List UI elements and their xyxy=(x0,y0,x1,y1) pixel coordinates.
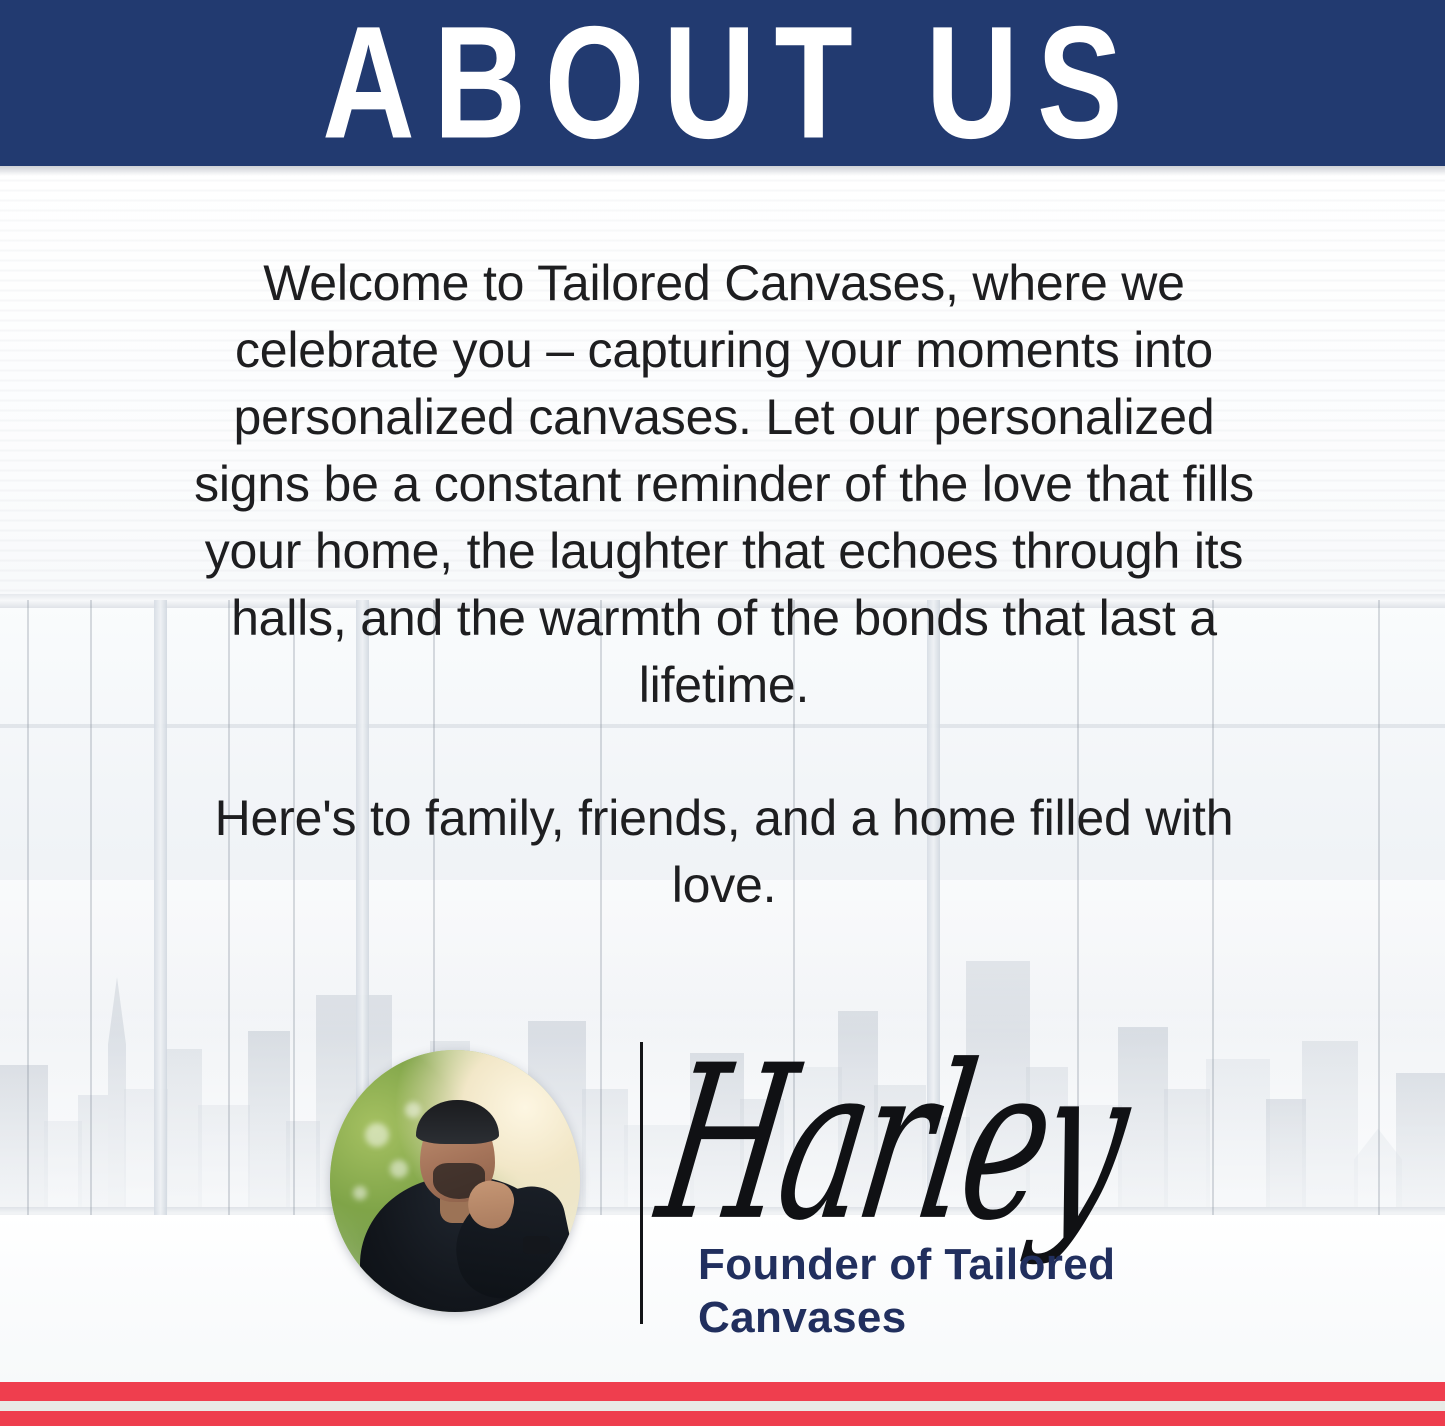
founder-signature-block: Harley Founder of Tailored Canvases xyxy=(330,1042,1130,1332)
founder-role-label: Founder of Tailored Canvases xyxy=(698,1238,1118,1344)
paragraph-intro: Welcome to Tailored Canvases, where we c… xyxy=(174,250,1274,719)
window-mullion xyxy=(154,600,167,1215)
footer-accent-bar-top xyxy=(0,1382,1445,1401)
about-us-graphic: ABOUT US Welcome to Tailored Canvases, w… xyxy=(0,0,1445,1426)
page-title: ABOUT US xyxy=(304,3,1142,163)
avatar xyxy=(330,1050,580,1312)
about-us-copy: Welcome to Tailored Canvases, where we c… xyxy=(174,250,1274,919)
window-mullion xyxy=(1378,600,1380,1215)
window-mullion xyxy=(90,600,92,1215)
window-mullion xyxy=(27,600,29,1215)
header-drop-shadow xyxy=(0,166,1445,176)
header-banner: ABOUT US xyxy=(0,0,1445,166)
paragraph-closing: Here's to family, friends, and a home fi… xyxy=(174,785,1274,919)
footer-accent-bar-bottom xyxy=(0,1411,1445,1426)
footer-bar-gap xyxy=(0,1401,1445,1411)
founder-portrait-photo xyxy=(330,1050,580,1312)
